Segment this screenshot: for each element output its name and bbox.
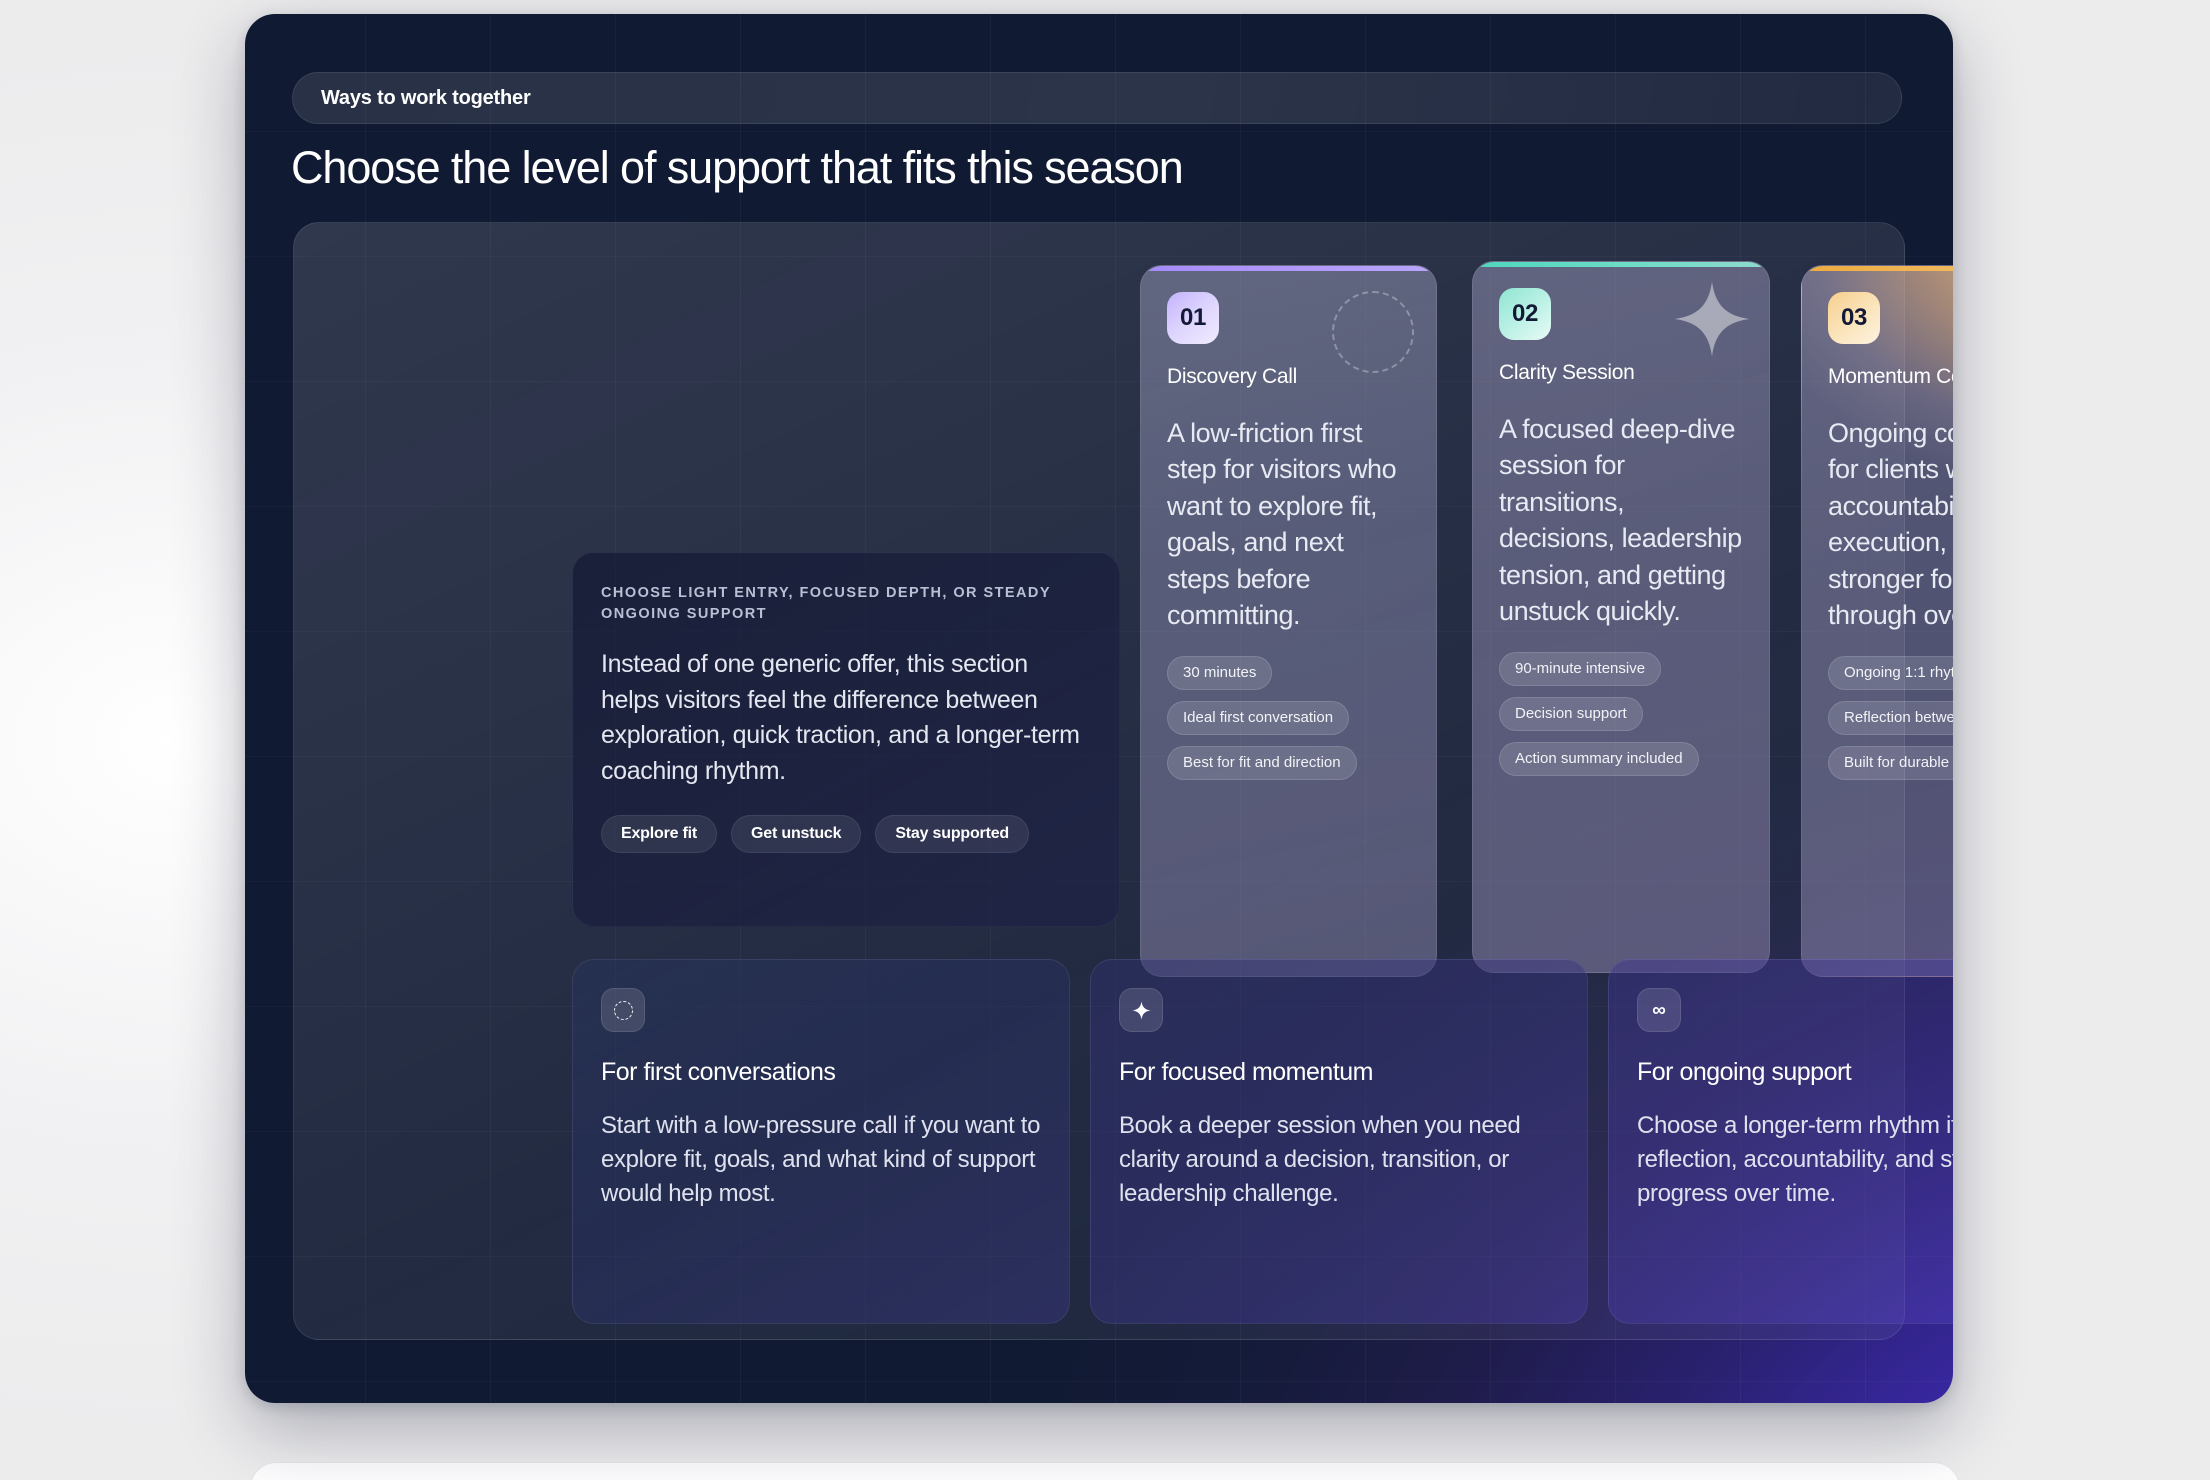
tier-tag: 30 minutes [1167,656,1272,690]
tier-accent-bar [1802,266,1953,271]
tier-tag: Built for durable progress [1828,746,1953,780]
intro-chip-group: Explore fit Get unstuck Stay supported [601,815,1091,853]
tier-accent-bar [1473,262,1769,267]
tier-tag: Decision support [1499,697,1643,731]
chip-explore-fit[interactable]: Explore fit [601,815,717,853]
tier-tag: Ideal first conversation [1167,701,1349,735]
note-body: Start with a low-pressure call if you wa… [601,1109,1041,1210]
tier-tag-group: 90-minute intensive Decision support Act… [1499,652,1743,776]
tier-description: A low-friction first step for visitors w… [1167,415,1410,634]
infinity-glyph: ∞ [1652,1001,1666,1020]
note-title: For focused momentum [1119,1058,1559,1087]
note-title: For first conversations [601,1058,1041,1087]
note-body: Book a deeper session when you need clar… [1119,1109,1559,1210]
section-eyebrow-label: Ways to work together [321,87,531,110]
chip-stay-supported[interactable]: Stay supported [875,815,1029,853]
infinity-icon: ∞ [1637,988,1681,1032]
note-card-ongoing-support[interactable]: ∞ For ongoing support Choose a longer-te… [1608,959,1953,1324]
dashed-circle-icon [1332,291,1414,373]
note-card-first-conversations[interactable]: For first conversations Start with a low… [572,959,1070,1324]
tier-number-badge: 03 [1828,292,1880,344]
tier-tag: Action summary included [1499,742,1699,776]
sparkle-icon [1119,988,1163,1032]
tier-name: Discovery Call [1167,364,1410,391]
tier-card-discovery-call[interactable]: 01 Discovery Call A low-friction first s… [1140,265,1437,977]
tier-tag-group: 30 minutes Ideal first conversation Best… [1167,656,1410,780]
tier-number-badge: 01 [1167,292,1219,344]
tier-tag-group: Ongoing 1:1 rhythm Reflection between se… [1828,656,1953,780]
dashed-ring-shape [614,1001,633,1020]
page-root: Ways to work together Choose the level o… [0,0,2210,1480]
note-title: For ongoing support [1637,1058,1953,1087]
note-card-focused-momentum[interactable]: For focused momentum Book a deeper sessi… [1090,959,1588,1324]
note-body: Choose a longer-term rhythm if you want … [1637,1109,1953,1210]
tier-accent-bar [1141,266,1436,271]
sparkle-icon [1673,280,1751,358]
tier-name: Momentum Coaching [1828,364,1953,391]
tier-name: Clarity Session [1499,360,1743,387]
page-title: Choose the level of support that fits th… [291,142,1183,194]
dashed-circle-icon [601,988,645,1032]
tier-card-clarity-session[interactable]: 02 Clarity Session A focused deep-dive s… [1472,261,1770,973]
section-eyebrow-pill: Ways to work together [292,72,1902,124]
chip-get-unstuck[interactable]: Get unstuck [731,815,861,853]
tier-tag: 90-minute intensive [1499,652,1661,686]
next-section-peek [250,1462,1960,1480]
intro-kicker: Choose light entry, focused depth, or st… [601,583,1051,625]
tier-tag: Reflection between sessions [1828,701,1953,735]
tier-tag: Best for fit and direction [1167,746,1357,780]
intro-card: Choose light entry, focused depth, or st… [572,552,1120,927]
tier-tag: Ongoing 1:1 rhythm [1828,656,1953,690]
tier-number-badge: 02 [1499,288,1551,340]
tier-description: A focused deep-dive session for transiti… [1499,411,1743,630]
intro-body: Instead of one generic offer, this secti… [601,647,1091,789]
sparkle-shape [1132,1001,1151,1020]
tier-description: Ongoing coaching for clients who need ac… [1828,415,1953,634]
ways-to-work-together-panel: Ways to work together Choose the level o… [245,14,1953,1403]
tier-card-momentum-coaching[interactable]: ∞ 03 Momentum Coaching Ongoing coaching … [1801,265,1953,977]
